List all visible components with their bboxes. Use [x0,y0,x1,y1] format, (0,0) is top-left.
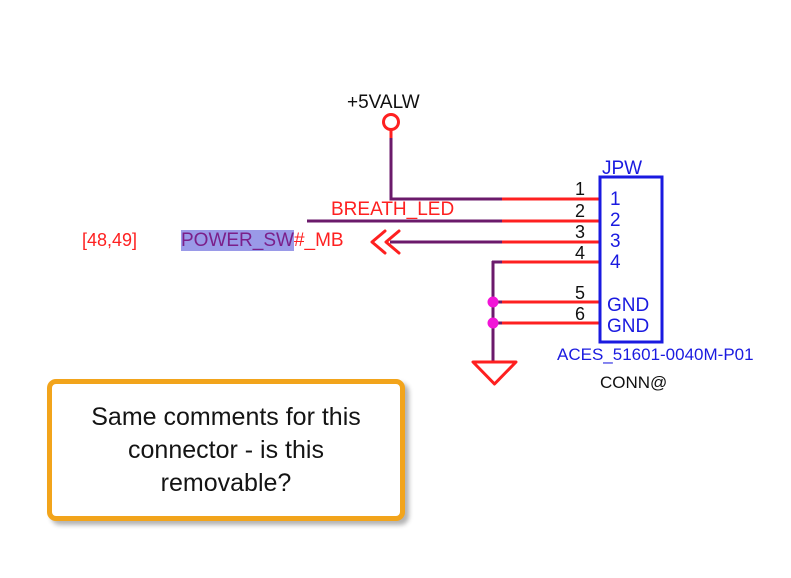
connector-type-label: CONN@ [600,374,667,391]
comment-callout-box[interactable]: Same comments for this connector - is th… [47,379,405,521]
power-net-label: +5VALW [347,93,420,112]
net-label-breath-led: BREATH_LED [331,200,454,219]
cross-reference-label: [48,49] [82,231,137,249]
connector-designator: JPW [602,159,642,178]
pin-label-inner-gnd: GND [607,296,649,315]
pin-number-outer: 3 [569,223,591,241]
junction-dot [488,297,499,308]
connector-part-number: ACES_51601-0040M-P01 [557,346,754,363]
signal-direction-chevron-icon [372,231,385,253]
schematic-canvas: +5VALW BREATH_LED [48,49] POWER_SW#_MB J… [0,0,791,578]
pin-number-outer: 1 [569,180,591,198]
pin-number-outer: 4 [569,244,591,262]
pin-number-outer: 5 [569,284,591,302]
ground-triangle-icon [473,362,516,384]
pin-number-outer: 6 [569,305,591,323]
pin-label-inner-gnd: GND [607,317,649,336]
junction-dot [488,318,499,329]
comment-callout-text: Same comments for this connector - is th… [52,401,400,500]
pin-label-inner: 4 [610,253,621,272]
pin-label-inner: 2 [610,211,621,230]
power-circle-icon [384,115,399,130]
pin-label-inner: 3 [610,232,621,251]
pin-label-inner: 1 [610,190,621,209]
net-label-power-sw-highlight: POWER_SW [181,230,294,251]
pin-number-outer: 2 [569,202,591,220]
net-label-power-sw: POWER_SW#_MB [181,231,344,250]
net-label-power-sw-tail: #_MB [294,230,344,251]
